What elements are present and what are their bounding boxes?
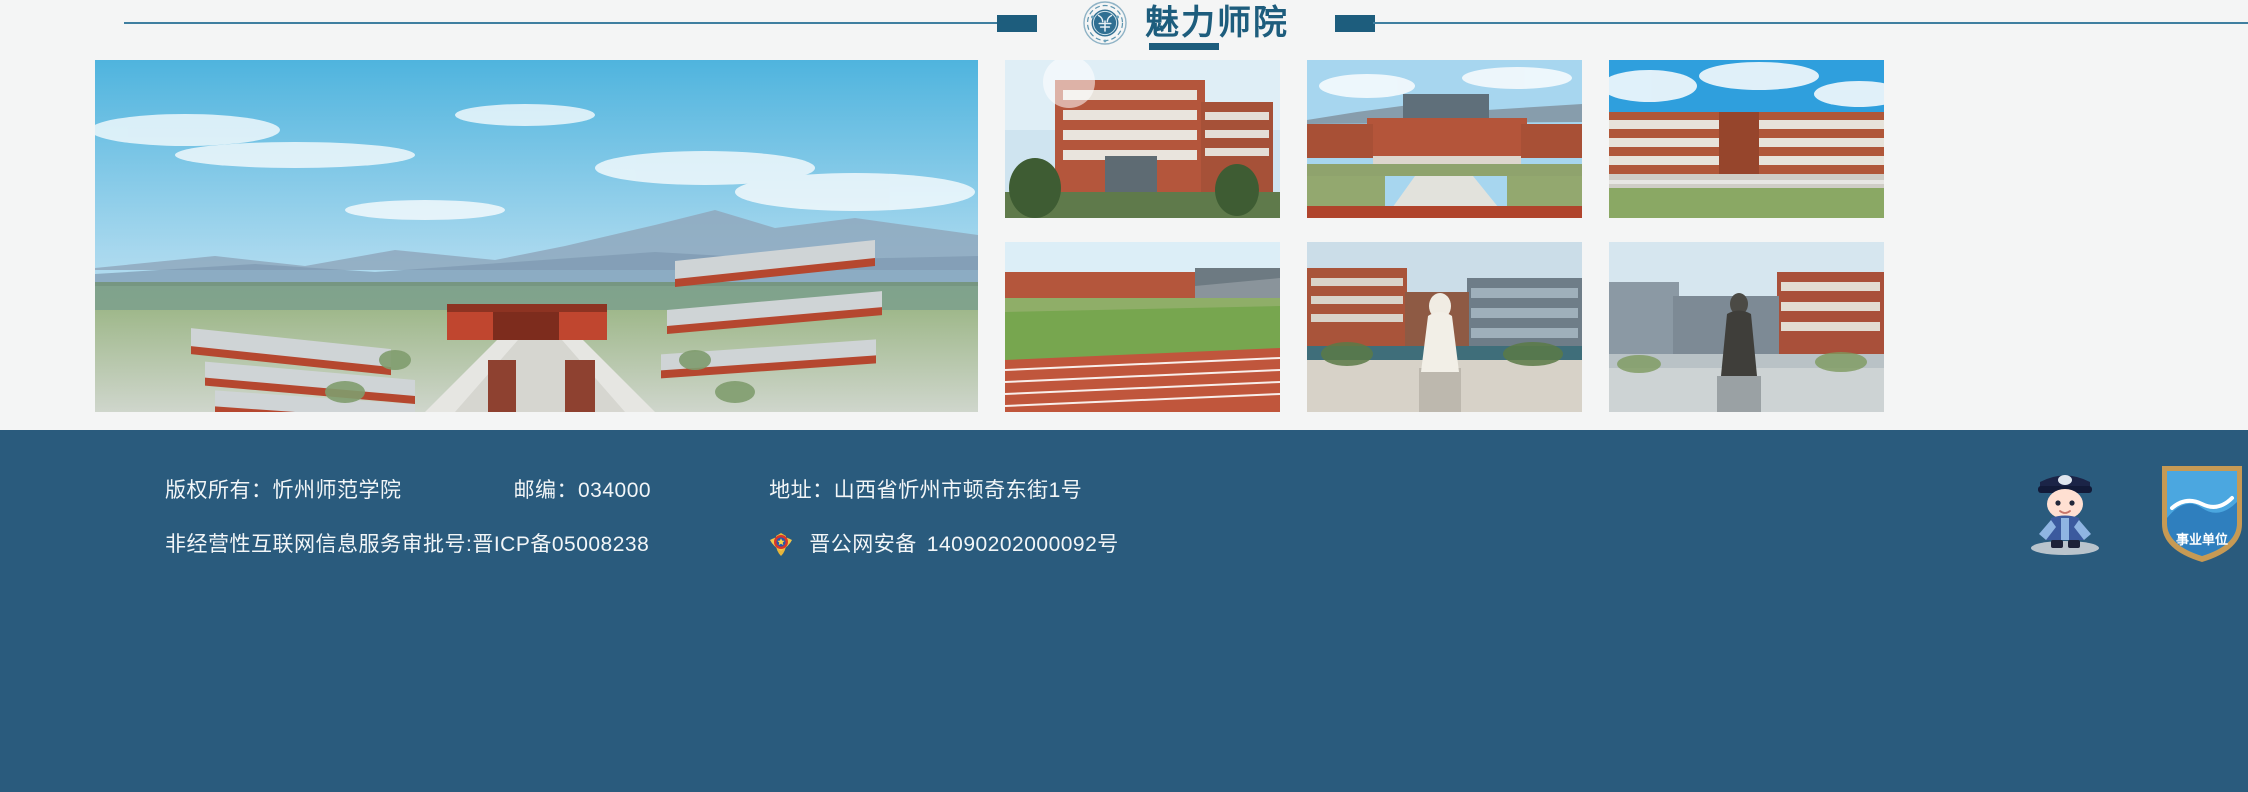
footer-row-secondary: 非经营性互联网信息服务审批号:晋ICP备05008238 晋公网安备 14090… (0, 526, 2248, 564)
decorative-rule-right (1335, 0, 2248, 46)
rule-line-left (124, 22, 999, 24)
footer-row-primary: 版权所有： 忻州师范学院 邮编： 034000 地址： 山西省忻州市顿奇东街1号 (0, 472, 2248, 510)
copyright-value: 忻州师范学院 (273, 472, 402, 510)
decorative-rule-left (0, 0, 1037, 46)
bronze-statue-photo (1609, 242, 1884, 412)
gallery-grid (1005, 60, 2248, 412)
title-underline (1149, 43, 1219, 50)
footer-badge-group: 事业单位 (2020, 460, 2248, 568)
school-seal-icon (1083, 1, 1127, 45)
section-title-block: 魅力师院 (1037, 0, 1335, 46)
police-record-value[interactable]: 14090202000092号 (927, 526, 1119, 564)
address-value: 山西省忻州市顿奇东街1号 (834, 472, 1083, 510)
postcode-value: 034000 (578, 472, 651, 510)
police-emblem-icon (767, 531, 795, 559)
gallery-item-1[interactable] (1005, 60, 1280, 218)
cyber-police-mascot-icon[interactable] (2020, 460, 2110, 555)
gallery-item-2[interactable] (1307, 60, 1582, 218)
rule-line-right (1373, 22, 2248, 24)
rule-cap-right (1335, 15, 1375, 32)
main-building-plaza-photo (1307, 60, 1582, 218)
section-title-column: 魅力师院 (1145, 1, 1289, 45)
page-title: 魅力师院 (1145, 1, 1289, 45)
campus-statue-photo (1307, 242, 1582, 412)
athletic-track-photo (1005, 242, 1280, 412)
shield-label: 事业单位 (2176, 532, 2228, 547)
police-record-label[interactable]: 晋公网安备 (809, 526, 917, 564)
gallery-item-4[interactable] (1005, 242, 1280, 412)
section-header: 魅力师院 (0, 0, 2248, 46)
icp-license-text[interactable]: 非经营性互联网信息服务审批号:晋ICP备05008238 (165, 526, 649, 564)
address-label: 地址： (769, 472, 834, 510)
gallery-item-3[interactable] (1609, 60, 1884, 218)
library-building-photo (1609, 60, 1884, 218)
teaching-building-photo (1005, 60, 1280, 218)
gallery-hero-item[interactable] (95, 60, 978, 412)
footer-text-block: 版权所有： 忻州师范学院 邮编： 034000 地址： 山西省忻州市顿奇东街1号… (0, 430, 2248, 560)
campus-photo-gallery (95, 60, 2248, 412)
site-footer: 版权所有： 忻州师范学院 邮编： 034000 地址： 山西省忻州市顿奇东街1号… (0, 430, 2248, 792)
public-institution-shield-icon[interactable]: 事业单位 (2156, 460, 2248, 568)
page-root: 魅力师院 (0, 0, 2248, 792)
copyright-label: 版权所有： (165, 472, 273, 510)
gallery-item-5[interactable] (1307, 242, 1582, 412)
gallery-item-6[interactable] (1609, 242, 1884, 412)
campus-aerial-photo (95, 60, 978, 412)
rule-cap-left (997, 15, 1037, 32)
postcode-label: 邮编： (514, 472, 579, 510)
